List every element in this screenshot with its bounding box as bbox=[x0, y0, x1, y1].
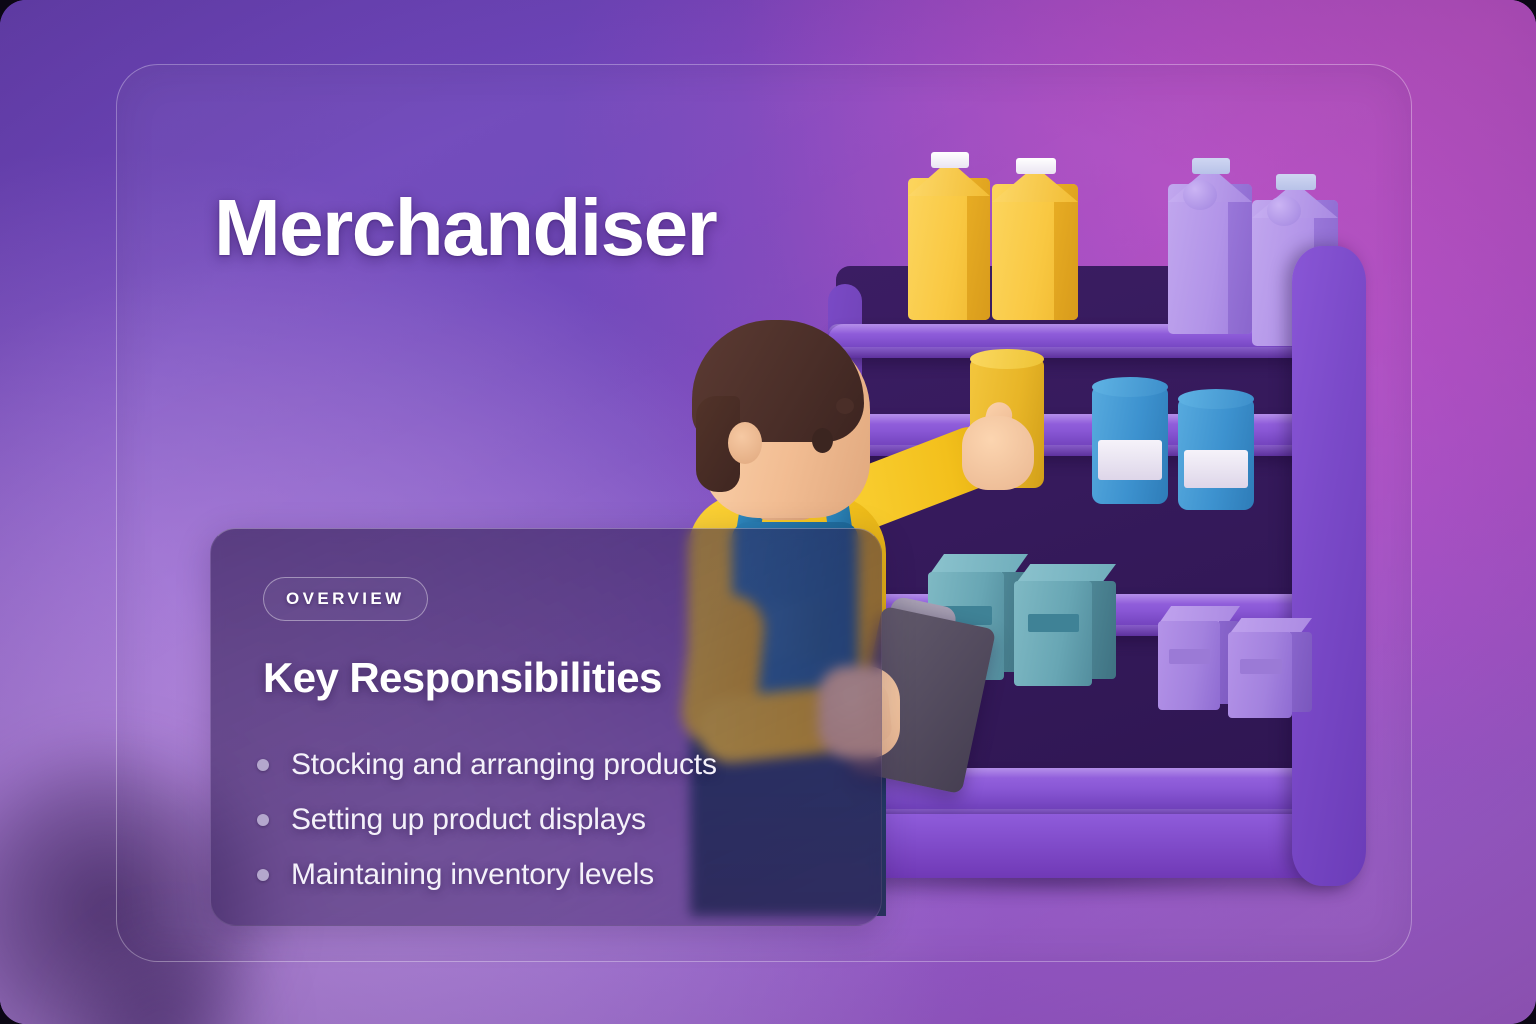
character-ear bbox=[728, 422, 762, 464]
section-heading: Key Responsibilities bbox=[263, 654, 662, 702]
overview-panel: OVERVIEW Key Responsibilities Stocking a… bbox=[210, 528, 882, 926]
responsibilities-list: Stocking and arranging products Setting … bbox=[257, 737, 717, 902]
list-item-label: Setting up product displays bbox=[291, 803, 646, 837]
bullet-dot-icon bbox=[257, 869, 269, 881]
character-raised-hand bbox=[962, 416, 1034, 490]
list-item: Setting up product displays bbox=[257, 792, 717, 847]
status-badge-label: OVERVIEW bbox=[286, 589, 405, 609]
character-eyebrow bbox=[836, 398, 854, 414]
status-badge: OVERVIEW bbox=[263, 577, 428, 621]
bullet-dot-icon bbox=[257, 814, 269, 826]
list-item: Maintaining inventory levels bbox=[257, 847, 717, 902]
poster-canvas: Merchandiser bbox=[0, 0, 1536, 1024]
list-item: Stocking and arranging products bbox=[257, 737, 717, 792]
bullet-dot-icon bbox=[257, 759, 269, 771]
list-item-label: Stocking and arranging products bbox=[291, 748, 717, 782]
list-item-label: Maintaining inventory levels bbox=[291, 858, 654, 892]
character-eye bbox=[812, 428, 833, 453]
